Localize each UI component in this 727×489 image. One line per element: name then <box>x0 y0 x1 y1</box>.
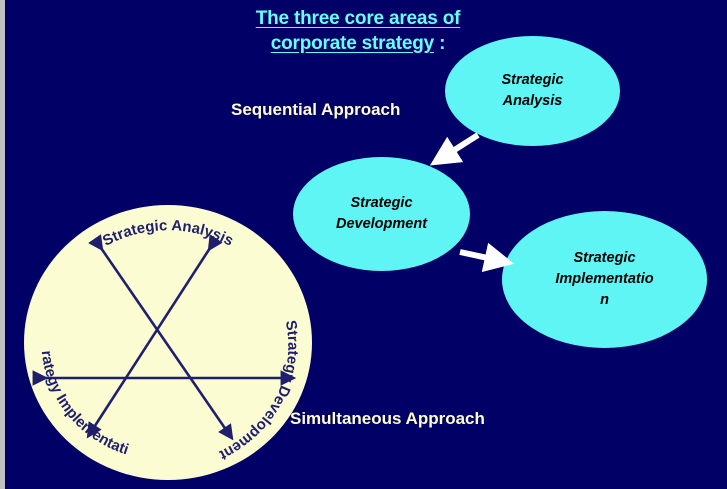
page-title: The three core areas of corporate strate… <box>227 6 489 56</box>
arrow-development-to-implementation <box>460 252 506 262</box>
slide-canvas: The three core areas of corporate strate… <box>0 0 727 489</box>
sequential-approach-label: Sequential Approach <box>231 100 400 120</box>
ellipse-development-line2: Development <box>336 216 427 232</box>
page-title-colon: : <box>434 33 445 54</box>
ellipse-strategic-development[interactable]: Strategic Development <box>293 157 470 271</box>
arrow-analysis-to-development <box>437 135 478 161</box>
ring-label-strategy-development: Strategy Development <box>217 319 302 463</box>
ellipse-implementation-line2: Implementatio <box>555 271 653 287</box>
ring-label-top-text: Strategic Analysis <box>100 217 236 249</box>
simultaneous-approach-label: Simultaneous Approach <box>290 409 485 429</box>
ring-label-right-text: Strategy Development <box>217 319 302 463</box>
ring-label-strategic-analysis: Strategic Analysis <box>100 217 236 249</box>
page-title-line2: corporate strategy <box>271 33 434 54</box>
ellipse-strategic-analysis[interactable]: Strategic Analysis <box>445 36 620 146</box>
ellipse-implementation-line1: Strategic <box>573 250 635 266</box>
page-title-line1: The three core areas of <box>256 8 460 29</box>
simultaneous-circle-diagram[interactable]: Strategic Analysis Strategy Development … <box>24 205 312 480</box>
ellipse-analysis-line2: Analysis <box>503 93 563 109</box>
ellipse-development-line1: Strategic <box>350 195 412 211</box>
ellipse-analysis-line1: Strategic <box>501 72 563 88</box>
arrow-diagonal-right-double <box>101 248 231 437</box>
ellipse-strategic-implementation[interactable]: Strategic Implementatio n <box>502 211 707 348</box>
circle-diagram-svg: Strategic Analysis Strategy Development … <box>24 205 312 480</box>
ellipse-implementation-line3: n <box>600 292 609 308</box>
arrow-diagonal-left-double <box>89 248 210 435</box>
